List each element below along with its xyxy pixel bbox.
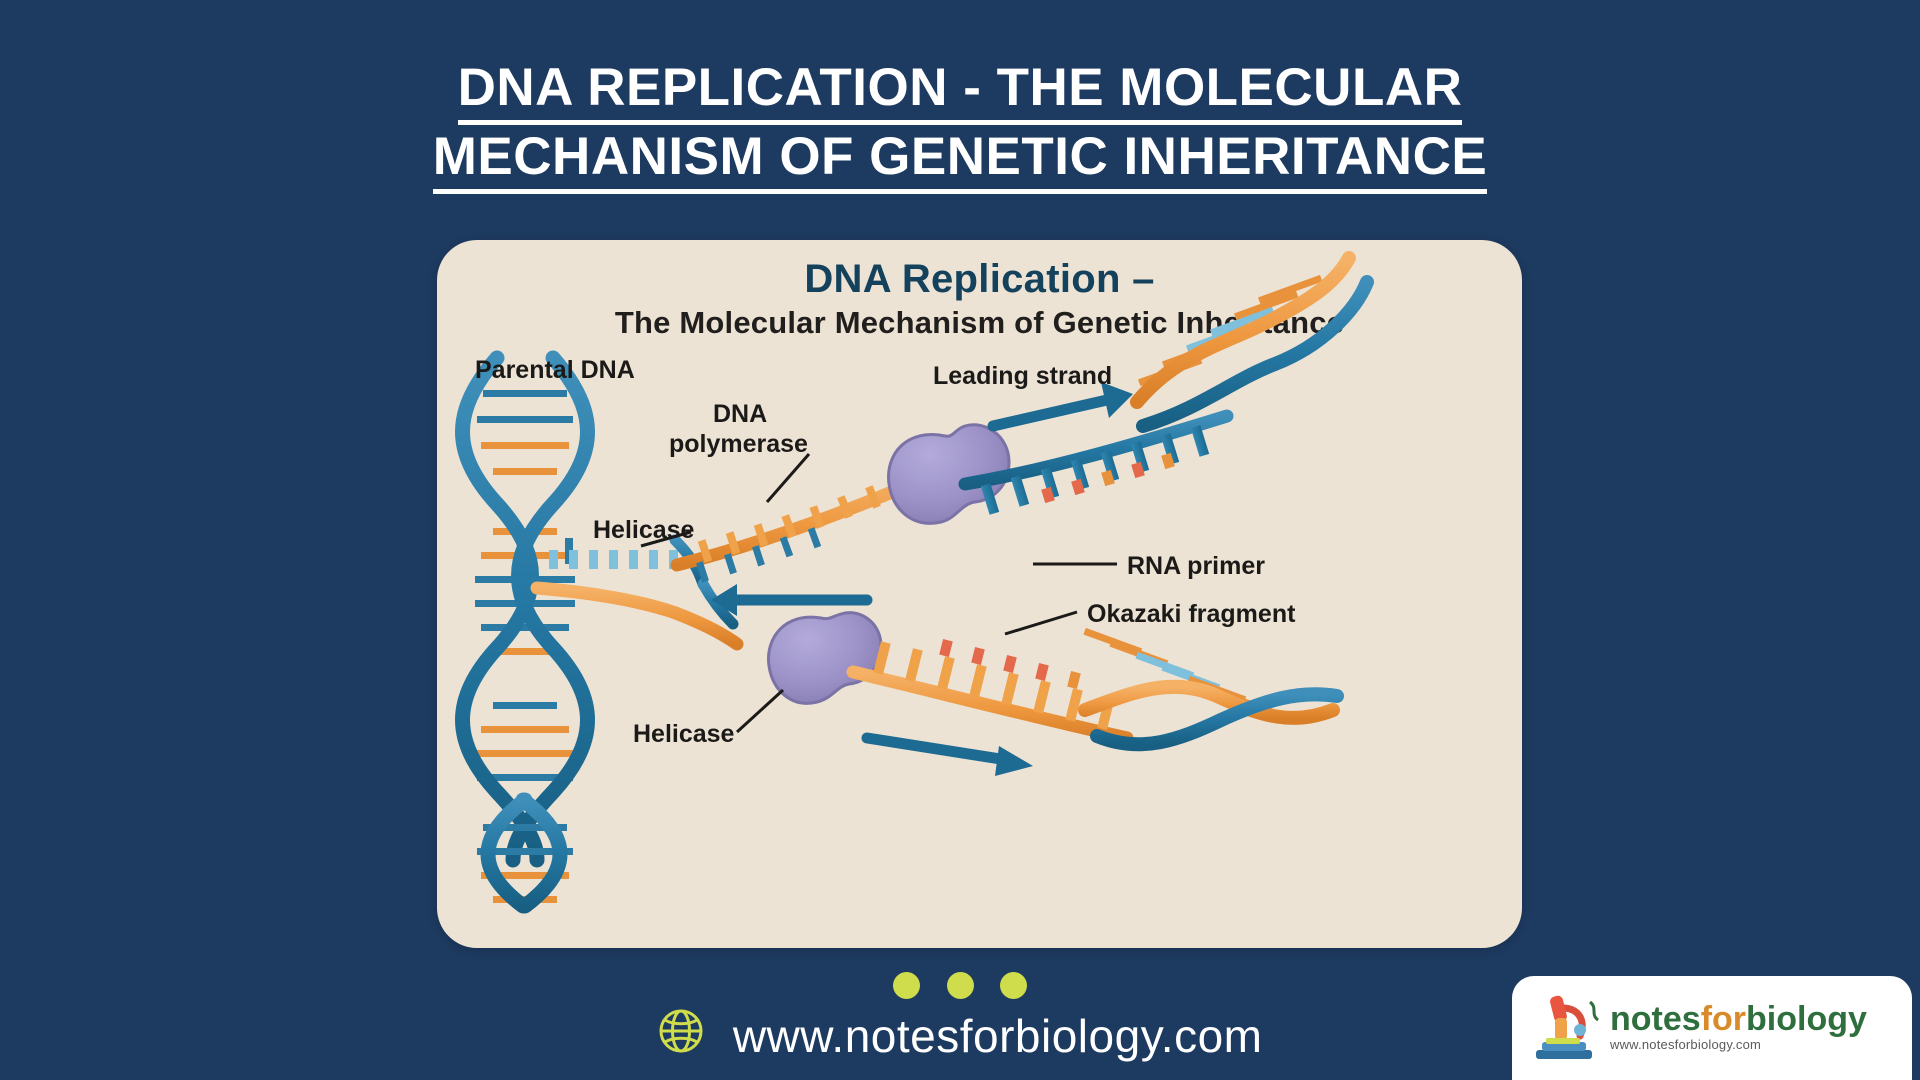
dot-2 (947, 972, 974, 999)
new-helix-top (1137, 258, 1367, 426)
label-dna-polymerase-line2: polymerase (669, 430, 808, 458)
globe-icon (658, 1008, 704, 1065)
logo-word-bio: bio (1746, 1000, 1797, 1038)
logo-sub-url: www.notesforbiology.com (1610, 1037, 1761, 1052)
logo-text-group: notesforbiology www.notesforbiology.com (1606, 1002, 1902, 1054)
diagram-card: DNA Replication – The Molecular Mechanis… (437, 240, 1522, 948)
page-title-line-2: MECHANISM OF GENETIC INHERITANCE (433, 127, 1487, 194)
logo-word-notes: notes (1610, 1000, 1701, 1038)
logo-word-for: for (1701, 1000, 1746, 1038)
label-leading-strand: Leading strand (933, 362, 1112, 390)
okazaki-direction-arrow (867, 738, 1033, 776)
page-title: DNA REPLICATION - THE MOLECULAR MECHANIS… (0, 58, 1920, 194)
label-parental-dna: Parental DNA (475, 356, 635, 384)
brand-logo[interactable]: notesforbiology www.notesforbiology.com (1512, 976, 1912, 1080)
label-rna-primer: RNA primer (1127, 552, 1265, 580)
polymerase-bottom (768, 613, 881, 704)
label-dna-polymerase-line1: DNA (713, 400, 767, 428)
logo-word-logy: logy (1797, 1000, 1867, 1038)
page-title-line-1: DNA REPLICATION - THE MOLECULAR (458, 58, 1463, 125)
dot-3 (1000, 972, 1027, 999)
dot-1 (893, 972, 920, 999)
okazaki-fragment-strand (853, 628, 1337, 776)
microscope-icon (1528, 988, 1606, 1068)
dna-replication-illustration: Parental DNA DNA polymerase Helicase Lea… (437, 240, 1522, 948)
new-helix-bottom (1083, 628, 1337, 744)
label-helicase-bottom: Helicase (633, 720, 735, 748)
lagging-direction-arrow (711, 584, 867, 616)
parental-dna-helix (463, 358, 668, 860)
logo-wordmark: notesforbiology (1610, 1000, 1867, 1038)
label-helicase-top: Helicase (593, 516, 695, 544)
label-okazaki-fragment: Okazaki fragment (1087, 600, 1296, 628)
footer-url-text: www.notesforbiology.com (733, 1009, 1263, 1063)
